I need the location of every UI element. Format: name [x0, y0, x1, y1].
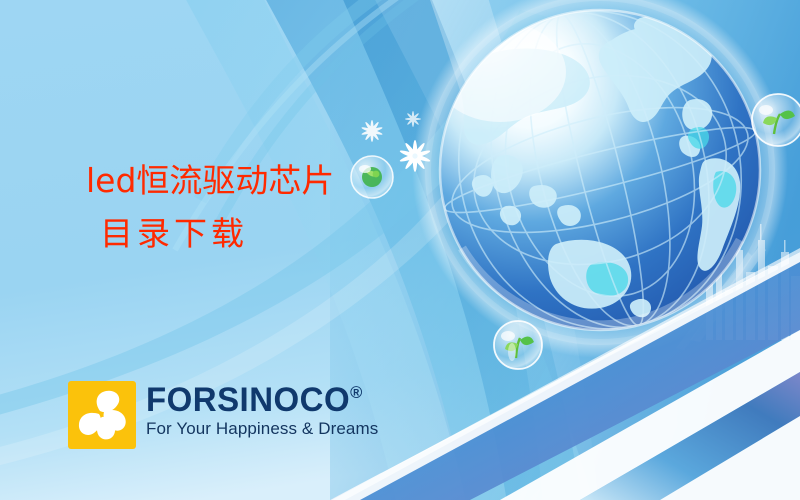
bubble-sprout-lower — [494, 321, 542, 369]
logo-mark-tile — [68, 381, 136, 449]
bubble-sprout-right — [752, 94, 800, 146]
logo-text-block: FORSINOCO® For Your Happiness & Dreams — [146, 381, 378, 437]
headline-block: led恒流驱动芯片 目录下载 — [86, 164, 334, 250]
sparkle-flower-3 — [405, 111, 421, 127]
logo-wordmark-text: FORSINOCO — [146, 381, 350, 419]
logo-tagline: For Your Happiness & Dreams — [146, 420, 378, 437]
headline-line-2: 目录下载 — [100, 217, 334, 250]
company-logo[interactable]: FORSINOCO® For Your Happiness & Dreams — [68, 381, 378, 449]
logo-wordmark: FORSINOCO® — [146, 383, 371, 417]
headline-line-1: led恒流驱动芯片 — [86, 164, 334, 197]
registered-trademark-icon: ® — [350, 383, 362, 402]
promo-banner: led恒流驱动芯片 目录下载 FORSINOCO® For Your Happi… — [0, 0, 800, 500]
bubble-globe — [351, 156, 393, 198]
pinwheel-flower-icon — [68, 381, 136, 449]
